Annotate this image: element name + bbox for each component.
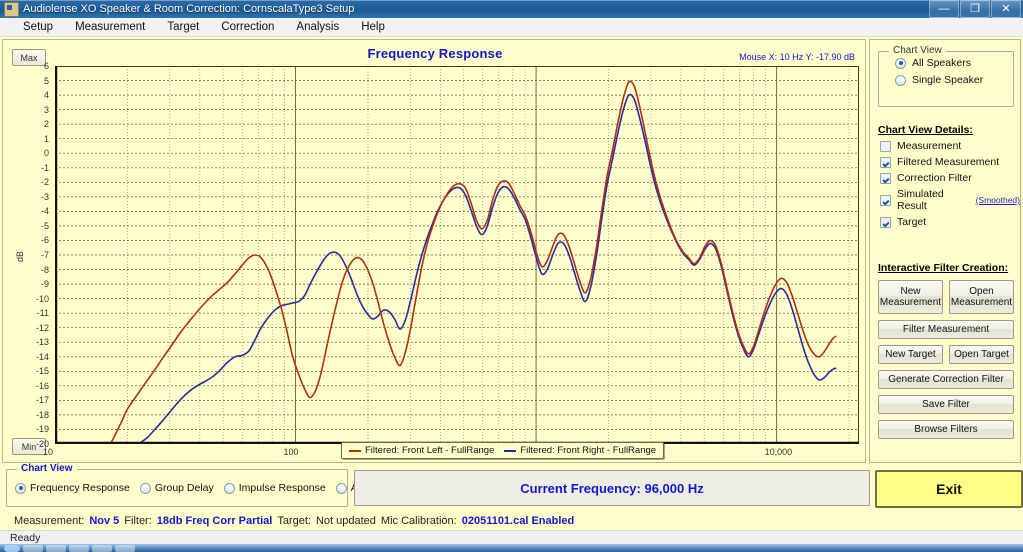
new-target-button[interactable]: New Target xyxy=(878,345,943,364)
menu-item-setup[interactable]: Setup xyxy=(12,19,64,35)
x-tick-label: 10,000 xyxy=(765,447,793,457)
bottom-radio-label-0: Frequency Response xyxy=(30,482,130,494)
maximize-icon[interactable]: ❐ xyxy=(960,0,990,18)
smoothed-link[interactable]: (Smoothed) xyxy=(976,195,1020,205)
bottom-radio-label-1: Group Delay xyxy=(155,482,214,494)
filter-measurement-button[interactable]: Filter Measurement xyxy=(878,320,1014,339)
y-tick-label: 1 xyxy=(44,135,49,143)
taskbar-icon-1[interactable] xyxy=(23,545,43,552)
chart-legend: Filtered: Front Left - FullRangeFiltered… xyxy=(341,442,664,459)
new-measurement-button[interactable]: New Measurement xyxy=(878,280,943,314)
taskbar-icon-2[interactable] xyxy=(46,545,66,552)
radio-icon-bottom-3[interactable] xyxy=(336,483,347,494)
ready-status-bar: Ready xyxy=(0,530,1023,544)
checkbox-label-2: Correction Filter xyxy=(897,172,972,184)
legend-item-0: Filtered: Front Left - FullRange xyxy=(349,445,494,456)
checkbox-icon-4[interactable] xyxy=(880,217,891,228)
chart-view-group: Chart View All Speakers Single Speaker xyxy=(878,51,1014,107)
legend-swatch-1 xyxy=(504,450,516,452)
legend-label-1: Filtered: Front Right - FullRange xyxy=(520,445,656,456)
bottom-radio-impulse-response[interactable]: Impulse Response xyxy=(224,482,326,494)
taskbar-icon-4[interactable] xyxy=(92,545,112,552)
status-filter-value: 18db Freq Corr Partial xyxy=(157,515,273,527)
title-bar: Audiolense XO Speaker & Room Correction:… xyxy=(0,0,1023,18)
radio-icon-bottom-0[interactable] xyxy=(15,483,26,494)
checkbox-label-1: Filtered Measurement xyxy=(897,156,999,168)
checkbox-label-4: Target xyxy=(897,216,926,228)
open-measurement-button[interactable]: Open Measurement xyxy=(949,280,1014,314)
taskbar-icon-5[interactable] xyxy=(115,545,135,552)
mouse-readout: Mouse X: 10 Hz Y: -17.90 dB xyxy=(739,52,855,62)
window-controls: — ❐ ✕ xyxy=(928,0,1021,18)
checkbox-icon-0[interactable] xyxy=(880,141,891,152)
checkbox-icon-1[interactable] xyxy=(880,157,891,168)
radio-icon-bottom-1[interactable] xyxy=(140,483,151,494)
chart-view-group-label: Chart View xyxy=(889,45,946,56)
y-tick-label: -16 xyxy=(36,382,49,390)
status-target-key: Target: xyxy=(277,515,311,527)
y-tick-label: -10 xyxy=(36,295,49,303)
y-tick-label: -13 xyxy=(36,338,49,346)
y-tick-label: -18 xyxy=(36,411,49,419)
bottom-chart-view-group: Chart View Frequency ResponseGroup Delay… xyxy=(6,469,348,507)
checkbox-label-3: Simulated Result xyxy=(897,188,965,212)
bottom-radio-label-2: Impulse Response xyxy=(239,482,326,494)
y-tick-label: -11 xyxy=(37,309,49,317)
filter-creation-heading: Interactive Filter Creation: xyxy=(878,262,1008,274)
y-axis-label: dB xyxy=(15,251,25,262)
exit-button[interactable]: Exit xyxy=(875,470,1023,508)
menu-bar: Setup Measurement Target Correction Anal… xyxy=(0,18,1023,37)
y-tick-label: -14 xyxy=(36,353,49,361)
radio-icon-bottom-2[interactable] xyxy=(224,483,235,494)
open-target-button[interactable]: Open Target xyxy=(949,345,1014,364)
y-tick-label: -9 xyxy=(41,280,49,288)
menu-item-correction[interactable]: Correction xyxy=(210,19,285,35)
chart-title: Frequency Response xyxy=(3,46,867,61)
menu-item-measurement[interactable]: Measurement xyxy=(64,19,156,35)
right-panel: Chart View All Speakers Single Speaker C… xyxy=(869,39,1021,463)
chart-view-details-list: MeasurementFiltered MeasurementCorrectio… xyxy=(880,140,1020,232)
y-tick-label: -12 xyxy=(36,324,49,332)
frequency-response-plot[interactable] xyxy=(55,66,859,444)
y-tick-label: -6 xyxy=(41,236,49,244)
radio-icon-single-speaker[interactable] xyxy=(895,75,906,86)
y-tick-label: 2 xyxy=(44,120,49,128)
bottom-bar: Chart View Frequency ResponseGroup Delay… xyxy=(2,467,1021,509)
minimize-icon[interactable]: — xyxy=(929,0,959,18)
y-tick-label: -2 xyxy=(41,178,49,186)
checkbox-row-simulated-result[interactable]: Simulated Result(Smoothed) xyxy=(880,188,1020,212)
y-tick-label: -15 xyxy=(36,367,49,375)
taskbar-icon-3[interactable] xyxy=(69,545,89,552)
checkbox-icon-2[interactable] xyxy=(880,173,891,184)
generate-correction-filter-button[interactable]: Generate Correction Filter xyxy=(878,370,1014,389)
legend-item-1: Filtered: Front Right - FullRange xyxy=(504,445,656,456)
bottom-radio-frequency-response[interactable]: Frequency Response xyxy=(15,482,130,494)
x-tick-label: 100 xyxy=(284,447,299,457)
checkbox-row-measurement[interactable]: Measurement xyxy=(880,140,1020,152)
y-tick-label: -1 xyxy=(41,164,49,172)
y-tick-label: -7 xyxy=(41,251,49,259)
y-tick-label: 6 xyxy=(44,62,49,70)
y-tick-label: -8 xyxy=(41,266,49,274)
y-tick-label: -19 xyxy=(36,425,49,433)
current-frequency-display: Current Frequency: 96,000 Hz xyxy=(354,470,870,506)
radio-icon-all-speakers[interactable] xyxy=(895,58,906,69)
radio-label-single-speaker: Single Speaker xyxy=(912,74,983,86)
menu-item-help[interactable]: Help xyxy=(350,19,396,35)
legend-swatch-0 xyxy=(349,450,361,452)
status-measurement-key: Measurement: xyxy=(14,515,84,527)
status-mic-value: 02051101.cal Enabled xyxy=(462,515,575,527)
taskbar xyxy=(0,544,1023,552)
status-line: Measurement: Nov 5 Filter: 18db Freq Cor… xyxy=(0,511,1023,530)
legend-label-0: Filtered: Front Left - FullRange xyxy=(365,445,494,456)
y-tick-label: -3 xyxy=(41,193,49,201)
close-icon[interactable]: ✕ xyxy=(991,0,1021,18)
app-icon xyxy=(4,2,19,17)
menu-item-analysis[interactable]: Analysis xyxy=(285,19,350,35)
radio-all-speakers[interactable]: All Speakers xyxy=(895,57,1013,69)
window-title: Audiolense XO Speaker & Room Correction:… xyxy=(23,3,928,15)
checkbox-row-target[interactable]: Target xyxy=(880,216,1020,228)
status-target-value: Not updated xyxy=(316,515,376,527)
y-tick-label: 0 xyxy=(44,149,49,157)
menu-item-target[interactable]: Target xyxy=(156,19,210,35)
radio-single-speaker[interactable]: Single Speaker xyxy=(895,74,1013,86)
y-tick-label: 3 xyxy=(44,106,49,114)
bottom-chart-view-label: Chart View xyxy=(17,463,77,474)
browse-filters-button[interactable]: Browse Filters xyxy=(878,420,1014,439)
checkbox-row-filtered-measurement[interactable]: Filtered Measurement xyxy=(880,156,1020,168)
status-filter-key: Filter: xyxy=(124,515,152,527)
radio-label-all-speakers: All Speakers xyxy=(912,57,971,69)
plot-area[interactable] xyxy=(55,66,859,444)
y-tick-label: -5 xyxy=(41,222,49,230)
bottom-radio-group-delay[interactable]: Group Delay xyxy=(140,482,214,494)
x-tick-label: 10 xyxy=(43,447,53,457)
chart-view-details-heading: Chart View Details: xyxy=(878,124,973,136)
y-tick-label: 4 xyxy=(44,91,49,99)
checkbox-label-0: Measurement xyxy=(897,140,961,152)
status-mic-key: Mic Calibration: xyxy=(381,515,457,527)
checkbox-icon-3[interactable] xyxy=(880,195,891,206)
y-tick-label: 5 xyxy=(44,77,49,85)
chart-panel: Max Min Frequency Response Mouse X: 10 H… xyxy=(2,39,866,463)
start-orb-icon[interactable] xyxy=(4,545,20,552)
y-tick-label: -17 xyxy=(36,396,49,404)
status-measurement-value: Nov 5 xyxy=(89,515,119,527)
checkbox-row-correction-filter[interactable]: Correction Filter xyxy=(880,172,1020,184)
save-filter-button[interactable]: Save Filter xyxy=(878,395,1014,414)
y-tick-label: -4 xyxy=(41,207,49,215)
